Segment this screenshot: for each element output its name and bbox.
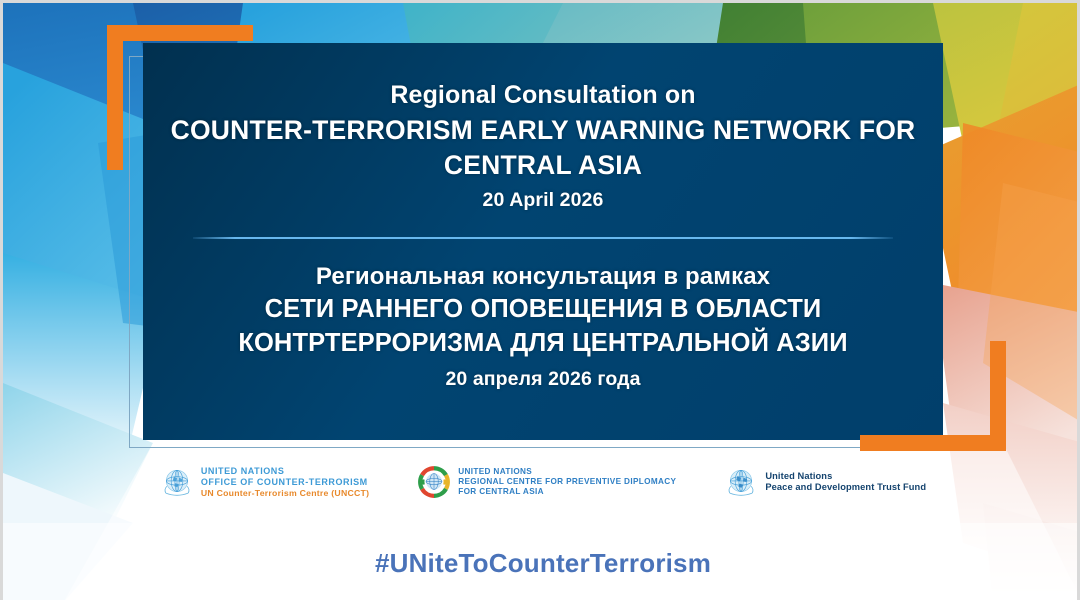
russian-title-line-2: КОНТРТЕРРОРИЗМА ДЛЯ ЦЕНТРАЛЬНОЙ АЗИИ: [143, 327, 943, 361]
logo-unoct-line-2: OFFICE OF COUNTER-TERRORISM: [201, 477, 369, 488]
english-title-line-1: COUNTER-TERRORISM EARLY WARNING NETWORK …: [143, 113, 943, 148]
logo-unrcca: UNITED NATIONS REGIONAL CENTRE FOR PREVE…: [411, 461, 682, 503]
logo-unrcca-line-2: REGIONAL CENTRE FOR PREVENTIVE DIPLOMACY: [458, 477, 676, 487]
unrcca-ring-emblem-icon: [417, 465, 451, 499]
logo-unoct-line-3: UN Counter-Terrorism Centre (UNCCT): [201, 488, 369, 499]
presentation-slide: Regional Consultation on COUNTER-TERRORI…: [0, 0, 1080, 600]
corner-bracket-bottom-right-icon: [860, 341, 1006, 451]
english-date: 20 April 2026: [143, 189, 943, 212]
russian-subtitle: Региональная консультация в рамках: [143, 263, 943, 291]
campaign-hashtag: #UNiteToCounterTerrorism: [3, 548, 1080, 579]
logo-row: UNITED NATIONS OFFICE OF COUNTER-TERRORI…: [3, 461, 1080, 503]
logo-unoct: UNITED NATIONS OFFICE OF COUNTER-TERRORI…: [154, 461, 375, 503]
panel-divider: [193, 237, 893, 239]
english-title-line-2: CENTRAL ASIA: [143, 148, 943, 183]
un-globe-emblem-icon: [160, 465, 194, 499]
english-subtitle: Regional Consultation on: [143, 81, 943, 111]
logo-trust-fund-line-2: Peace and Development Trust Fund: [765, 482, 926, 493]
logo-unrcca-line-1: UNITED NATIONS: [458, 467, 676, 477]
logo-trust-fund-line-1: United Nations: [765, 471, 926, 482]
corner-bracket-top-left-icon: [107, 25, 253, 170]
logo-unrcca-line-3: FOR CENTRAL ASIA: [458, 487, 676, 497]
russian-title-line-1: СЕТИ РАННЕГО ОПОВЕЩЕНИЯ В ОБЛАСТИ: [143, 293, 943, 327]
title-panel: Regional Consultation on COUNTER-TERRORI…: [143, 43, 943, 440]
logo-unoct-line-1: UNITED NATIONS: [201, 466, 369, 477]
logo-un-peace-development-trust-fund: United Nations Peace and Development Tru…: [718, 461, 932, 503]
un-globe-emblem-icon: [724, 465, 758, 499]
russian-date: 20 апреля 2026 года: [143, 368, 943, 391]
